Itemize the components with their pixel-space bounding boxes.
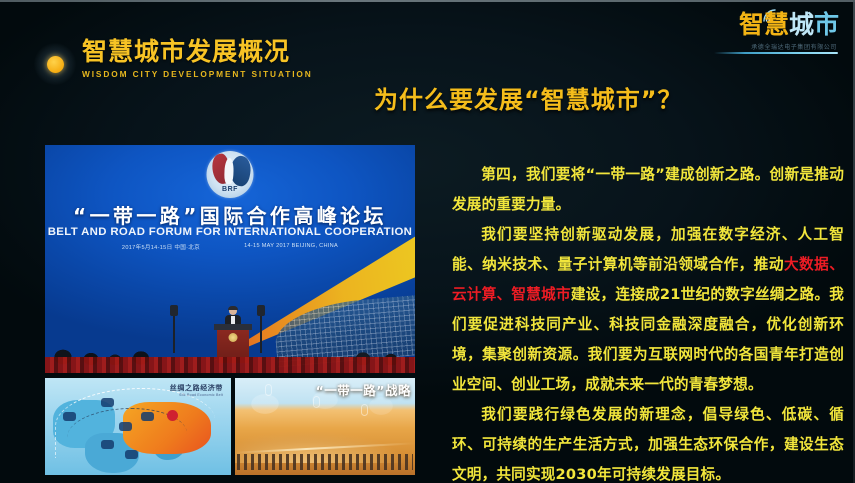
body-text-block: 第四，我们要将“一带一路”建成创新之路。创新是推动发展的重要力量。我们要坚持创新… [452,160,844,483]
map-pin-6 [125,450,138,459]
slide-section-header: 智慧城市发展概况 WISDOM CITY DEVELOPMENT SITUATI… [34,38,313,85]
bullet-dot [47,56,64,73]
conference-photo: BRF “一带一路”国际合作高峰论坛 BELT AND ROAD FORUM F… [45,145,415,373]
camel-caravan [237,454,413,470]
podium-seal [229,333,238,342]
thumbnail-row: 丝绸之路经济带 Silk Road Economic Belt “一带一路”战略 [45,378,415,475]
body-text-run: 我们要践行绿色发展的新理念，倡导绿色、低碳、循环、可持续的生产生活方式，加强生态… [452,406,844,483]
map-title: 丝绸之路经济带 Silk Road Economic Belt [170,384,223,398]
map-title-en: Silk Road Economic Belt [170,393,223,398]
mic-stand-right [260,313,262,353]
silk-road-economic-belt-map: 丝绸之路经济带 Silk Road Economic Belt [45,378,231,475]
header-texts: 智慧城市发展概况 WISDOM CITY DEVELOPMENT SITUATI… [82,38,313,79]
belt-and-road-strategy-desert: “一带一路”战略 [235,378,415,475]
brf-emblem-text: BRF [207,186,254,193]
mic-stand-left [173,313,175,353]
company-logo: 智慧城市 承德全瑞达电子集团有限公司 [703,6,843,54]
map-pin-beijing [167,410,178,421]
map-pin-3 [119,422,132,431]
logo-subtitle: 承德全瑞达电子集团有限公司 [751,42,837,51]
map-pin-2 [101,398,114,407]
map-pin-5 [101,440,114,449]
ghost-pin-1 [265,384,272,396]
forum-banner-cn: “一带一路”国际合作高峰论坛 [45,200,415,229]
logo-text-zhihui: 智慧 [739,10,789,39]
section-title-en: WISDOM CITY DEVELOPMENT SITUATION [82,69,313,79]
slide-canvas: 智慧城市发展概况 WISDOM CITY DEVELOPMENT SITUATI… [0,0,855,483]
map-title-cn: 丝绸之路经济带 [170,385,223,392]
photo-collage: BRF “一带一路”国际合作高峰论坛 BELT AND ROAD FORUM F… [45,145,415,475]
section-title-cn: 智慧城市发展概况 [82,38,313,66]
logo-wordmark: 智慧城市 [739,12,839,37]
forum-dates: 2017年5月14-15日 中国·北京 14-15 MAY 2017 BEIJI… [45,243,415,251]
body-text-run: 第四，我们要将“一带一路”建成创新之路。创新是推动发展的重要力量。 [452,166,844,213]
body-paragraph: 我们要践行绿色发展的新理念，倡导绿色、低碳、循环、可持续的生产生活方式，加强生态… [452,400,844,483]
map-pin-1 [63,412,76,421]
logo-underline [714,52,838,54]
brf-emblem-icon: BRF [207,151,254,198]
strategy-label: “一带一路”战略 [316,380,411,399]
logo-text-shi: 市 [814,10,839,39]
forum-date-en: 14-15 MAY 2017 BEIJING, CHINA [244,243,338,251]
forum-date-cn: 2017年5月14-15日 中国·北京 [122,243,200,251]
flower-row [45,357,415,373]
forum-banner-en: BELT AND ROAD FORUM FOR INTERNATIONAL CO… [45,226,415,238]
page-title: 为什么要发展“智慧城市”？ [374,80,683,115]
dot-bullet-icon [34,43,76,85]
logo-text-cheng: 城 [789,10,814,39]
brf-emblem-white [224,158,234,184]
speaker-head [229,307,237,315]
body-paragraph: 我们要坚持创新驱动发展，加强在数字经济、人工智能、纳米技术、量子计算机等前沿领域… [452,220,844,400]
map-pin-4 [141,412,154,421]
body-paragraph: 第四，我们要将“一带一路”建成创新之路。创新是推动发展的重要力量。 [452,160,844,220]
